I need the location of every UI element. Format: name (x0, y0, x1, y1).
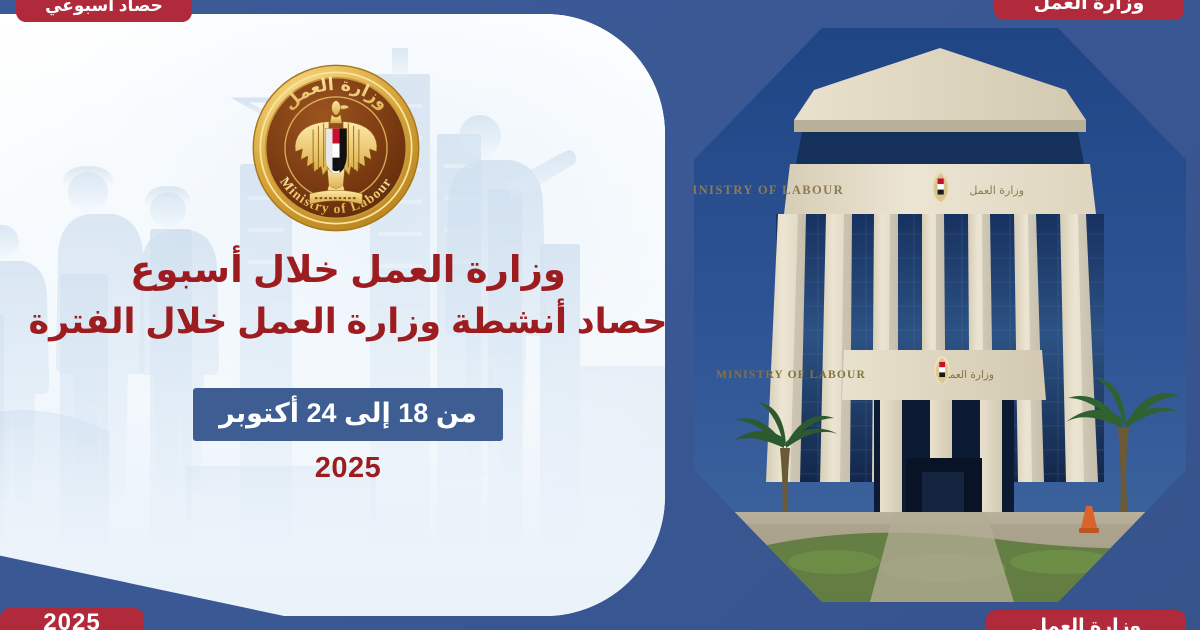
date-year: 2025 (28, 454, 668, 483)
photo-facade-text-en: MINISTRY OF LABOUR (716, 369, 866, 381)
photo-facade-emblem-icon (935, 356, 950, 384)
photo-upper-emblem-icon (933, 172, 949, 202)
ribbon-bottom-right: وزارة العمل (986, 610, 1186, 630)
ribbon-bottom-left: 2025 (0, 608, 144, 630)
ministry-building-photo: MINISTRY OF LABOUR وزارة العمل (694, 28, 1186, 602)
date-range-badge: من 18 إلى 24 أكتوبر (193, 388, 503, 441)
headline-line-2: حصاد أنشطة وزارة العمل خلال الفترة (28, 297, 668, 347)
poster-canvas: وزارة العمل Ministry of Labour (0, 0, 1200, 630)
photo-upper-sign-en: MINISTRY OF LABOUR (694, 183, 844, 197)
date-block: من 18 إلى 24 أكتوبر 2025 (28, 388, 668, 483)
egyptian-flag-shield-icon (325, 129, 346, 174)
headline-block: وزارة العمل خلال أسبوع حصاد أنشطة وزارة … (28, 244, 668, 346)
photo-facade-text-ar: وزارة العمل (942, 369, 994, 381)
ministry-emblem-logo: وزارة العمل Ministry of Labour (248, 58, 424, 238)
photo-upper-sign-ar: وزارة العمل (969, 184, 1024, 197)
ribbon-top-right: وزارة العمل (994, 0, 1184, 20)
headline-line-1: وزارة العمل خلال أسبوع (28, 244, 668, 297)
ribbon-top-left: حصاد أسبوعي (16, 0, 192, 22)
